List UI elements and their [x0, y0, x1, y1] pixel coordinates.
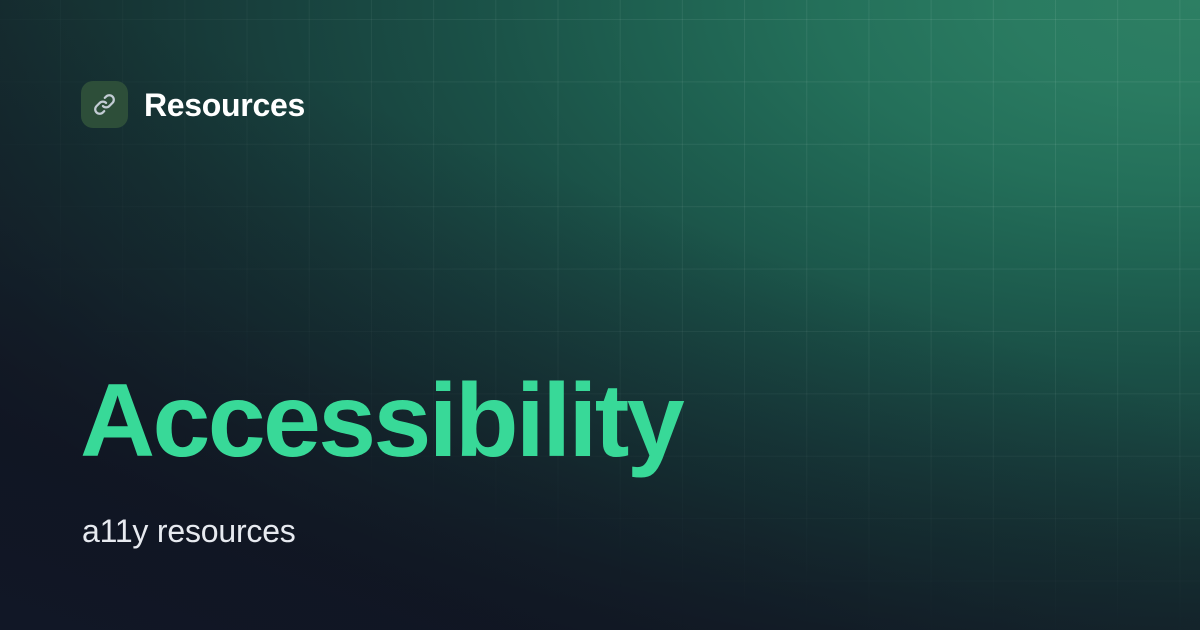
card-content: Resources Accessibility a11y resources: [0, 0, 1200, 630]
brand-badge: Resources: [81, 81, 305, 128]
og-card: Resources Accessibility a11y resources: [0, 0, 1200, 630]
page-title: Accessibility: [80, 369, 682, 473]
page-subtitle: a11y resources: [82, 512, 296, 550]
link-icon-tile: [81, 81, 128, 128]
link-icon: [91, 91, 118, 118]
brand-label: Resources: [144, 89, 305, 121]
